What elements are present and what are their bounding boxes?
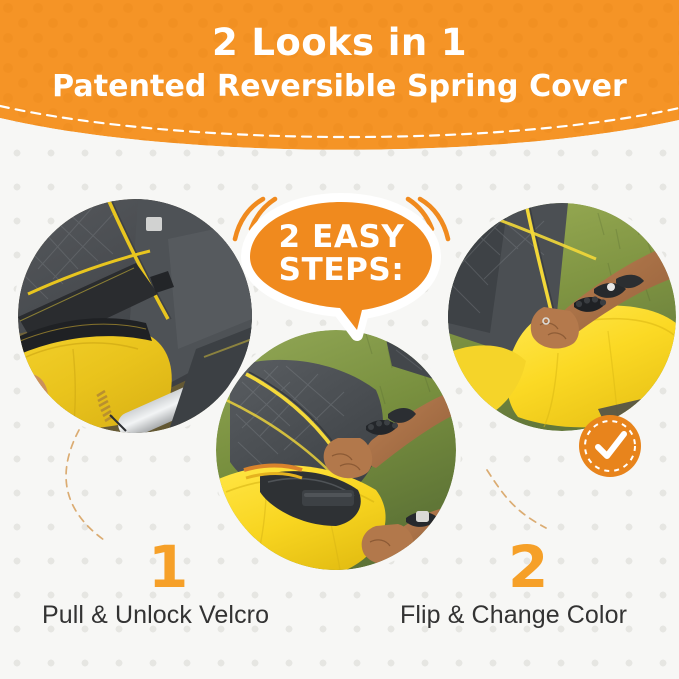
- step-label-1: Pull & Unlock Velcro: [42, 601, 269, 630]
- bubble-body: [247, 199, 435, 335]
- photo-2-artwork: [216, 330, 456, 570]
- step-number-2: 2: [508, 538, 548, 596]
- header-banner: 2 Looks in 1 Patented Reversible Spring …: [0, 0, 679, 160]
- check-badge: [578, 414, 642, 478]
- photo-1-artwork: [18, 199, 252, 433]
- page-subtitle: Patented Reversible Spring Cover: [52, 70, 627, 103]
- step-number-1: 1: [148, 538, 188, 596]
- photo-3-artwork: [448, 203, 676, 431]
- photo-pull-velcro: [18, 199, 252, 433]
- photo-flip-color: [448, 203, 676, 431]
- speech-bubble-shape: [229, 185, 454, 360]
- step-label-2: Flip & Change Color: [400, 601, 627, 630]
- header-text-block: 2 Looks in 1 Patented Reversible Spring …: [0, 0, 679, 140]
- check-badge-circle: [579, 415, 641, 477]
- photo-unzip-flap: [216, 330, 456, 570]
- page-title: 2 Looks in 1: [212, 24, 467, 63]
- speech-bubble: 2 EASY STEPS:: [229, 185, 454, 360]
